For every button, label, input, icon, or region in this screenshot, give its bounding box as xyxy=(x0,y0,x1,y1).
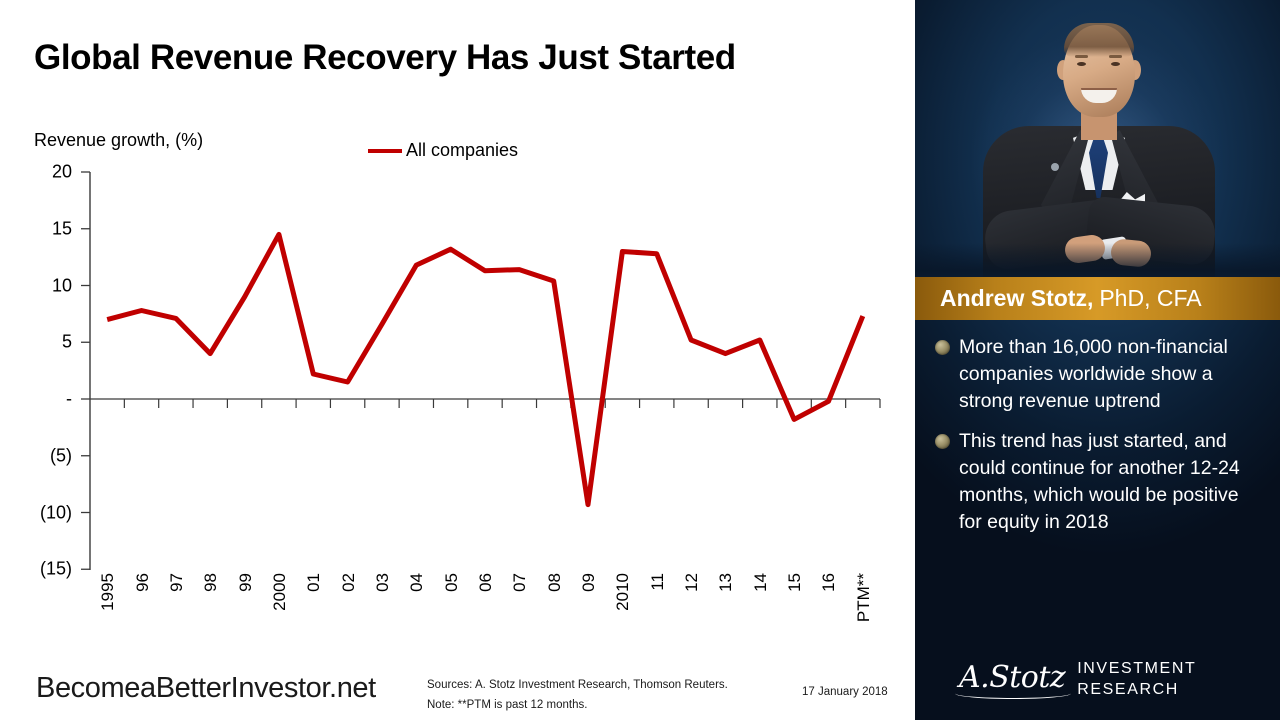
x-axis-labels: 1995969798992000010203040506070809201011… xyxy=(0,0,915,720)
x-tick-label: 09 xyxy=(579,573,599,592)
astotz-signature: A.Stotz xyxy=(959,660,1065,695)
presenter-credentials: PhD, CFA xyxy=(1099,285,1201,312)
bullet-globe-icon xyxy=(935,340,950,355)
x-tick-label: 12 xyxy=(682,573,702,592)
sources-line: Sources: A. Stotz Investment Research, T… xyxy=(427,675,728,695)
portrait-hair xyxy=(1064,23,1134,57)
x-tick-label: 16 xyxy=(819,573,839,592)
astotz-logo: A.Stotz INVESTMENT RESEARCH xyxy=(959,650,1259,708)
x-tick-label: 02 xyxy=(339,573,359,592)
bullet-list: More than 16,000 non-financial companies… xyxy=(915,334,1280,549)
x-tick-label: 07 xyxy=(510,573,530,592)
presenter-name: Andrew Stotz, xyxy=(940,285,1093,312)
x-tick-label: 01 xyxy=(304,573,324,592)
x-tick-label: 03 xyxy=(373,573,393,592)
x-tick-label: 99 xyxy=(236,573,256,592)
x-tick-label: 15 xyxy=(785,573,805,592)
bullet-text: More than 16,000 non-financial companies… xyxy=(959,334,1264,415)
andrew-stotz-photo xyxy=(915,0,1280,283)
name-banner: Andrew Stotz, PhD, CFA xyxy=(915,277,1280,320)
portrait-brow-left xyxy=(1075,55,1088,58)
sidebar-panel: Andrew Stotz, PhD, CFA More than 16,000 … xyxy=(915,0,1280,720)
x-tick-label: 96 xyxy=(133,573,153,592)
portrait-photo xyxy=(915,0,1280,283)
x-tick-label: 98 xyxy=(201,573,221,592)
bullet-globe-icon xyxy=(935,434,950,449)
x-tick-label: 97 xyxy=(167,573,187,592)
x-tick-label: 2010 xyxy=(613,573,633,611)
astotz-logo-words: INVESTMENT RESEARCH xyxy=(1077,658,1196,700)
logo-line-investment: INVESTMENT xyxy=(1077,658,1196,679)
x-tick-label: 11 xyxy=(648,573,668,591)
x-tick-label: 08 xyxy=(545,573,565,592)
logo-line-research: RESEARCH xyxy=(1077,679,1196,700)
portrait-brow-right xyxy=(1109,55,1122,58)
chart-panel: Global Revenue Recovery Has Just Started… xyxy=(0,0,915,720)
x-tick-label: 1995 xyxy=(98,573,118,611)
portrait-eye-right xyxy=(1111,62,1120,66)
portrait-eye-left xyxy=(1077,62,1086,66)
note-line: Note: **PTM is past 12 months. xyxy=(427,695,728,715)
x-tick-label: 2000 xyxy=(270,573,290,611)
bullet-text: This trend has just started, and could c… xyxy=(959,428,1264,536)
sources-note: Sources: A. Stotz Investment Research, T… xyxy=(427,675,728,715)
portrait-lapel-pin xyxy=(1051,163,1059,171)
bullet-item: This trend has just started, and could c… xyxy=(935,428,1264,536)
x-tick-label: 14 xyxy=(751,573,771,592)
bullet-item: More than 16,000 non-financial companies… xyxy=(935,334,1264,415)
x-tick-label: 05 xyxy=(442,573,462,592)
brand-wordmark: BecomeaBetterInvestor.net xyxy=(36,672,376,705)
slide-canvas: Global Revenue Recovery Has Just Started… xyxy=(0,0,1280,720)
slide-date: 17 January 2018 xyxy=(802,686,888,698)
x-tick-label: 06 xyxy=(476,573,496,592)
x-tick-label: PTM** xyxy=(854,573,874,622)
x-tick-label: 13 xyxy=(716,573,736,592)
x-tick-label: 04 xyxy=(407,573,427,592)
